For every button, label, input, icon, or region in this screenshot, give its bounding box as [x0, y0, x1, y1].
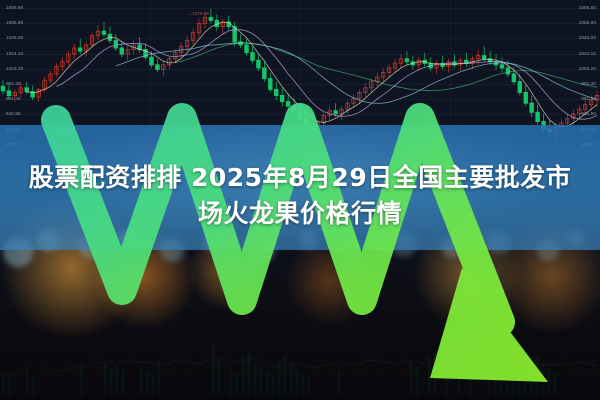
promo-banner: 1086.801086.801065.901065.901045.001045.…: [0, 0, 600, 400]
title-line-2: 场火龙果价格行情: [0, 196, 600, 232]
page-title: 股票配资排排 2025年8月29日全国主要批发市 场火龙果价格行情: [0, 160, 600, 233]
title-line-1: 股票配资排排 2025年8月29日全国主要批发市: [0, 160, 600, 196]
